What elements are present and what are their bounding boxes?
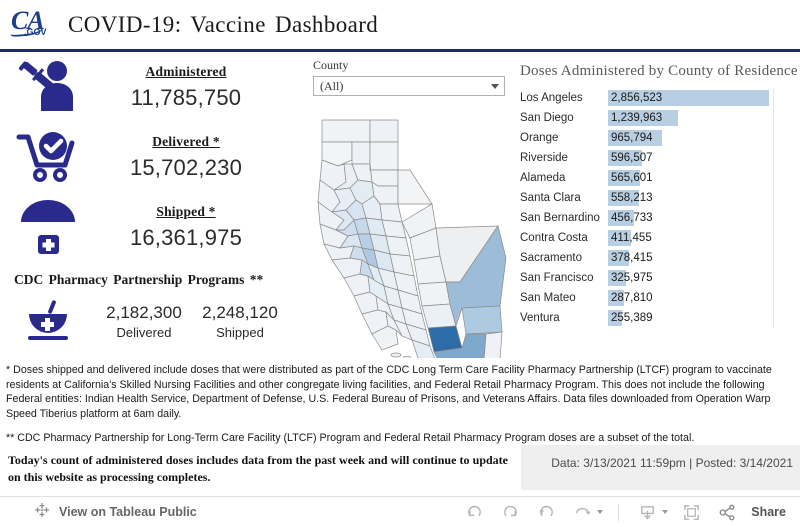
cdc-section-title: CDC Pharmacy Partnership Programs ** [14, 272, 300, 288]
chart-bar-label: Ventura [520, 312, 608, 324]
cdc-label: Shipped [192, 325, 288, 340]
chart-bar-track: 1,239,963 [608, 110, 800, 126]
chart-bar-row[interactable]: Contra Costa411,455 [520, 228, 800, 248]
chart-bar-value: 596,507 [611, 150, 653, 166]
shopping-cart-check-icon [0, 129, 96, 185]
ca-gov-logo-icon: CA .GOV [10, 8, 56, 42]
share-icon[interactable] [710, 498, 744, 526]
cdc-value: 2,182,300 [96, 303, 192, 323]
chevron-down-icon[interactable] [662, 510, 668, 514]
chart-bar-row[interactable]: San Mateo287,810 [520, 288, 800, 308]
county-doses-chart: Doses Administered by County of Residenc… [520, 62, 800, 328]
california-county-choropleth-map[interactable] [310, 108, 515, 358]
county-filter-value: (All) [320, 79, 343, 94]
chart-bar-value: 325,975 [611, 270, 653, 286]
chart-bar-value: 565,601 [611, 170, 653, 186]
chart-bar-row[interactable]: Orange965,794 [520, 128, 800, 148]
stat-administered-text: Administered 11,785,750 [96, 64, 300, 111]
stat-value: 15,702,230 [96, 155, 276, 181]
chevron-down-icon [491, 84, 499, 89]
stat-shipped: Shipped * 16,361,975 [0, 192, 300, 262]
stat-delivered: Delivered * 15,702,230 [0, 122, 300, 192]
footnote-one: * Doses shipped and delivered include do… [6, 363, 774, 422]
chart-bar-value: 378,415 [611, 250, 653, 266]
stat-label: Shipped * [96, 204, 276, 220]
cdc-shipped: 2,248,120 Shipped [192, 303, 288, 340]
toolbar-actions: Share [457, 498, 786, 526]
fullscreen-icon[interactable] [674, 498, 708, 526]
chart-bar-row[interactable]: San Francisco325,975 [520, 268, 800, 288]
chart-bar-value: 558,213 [611, 190, 653, 206]
footnote-two: ** CDC Pharmacy Partnership for Long-Ter… [6, 431, 774, 446]
chart-bar-track: 596,507 [608, 150, 800, 166]
data-timestamp: Data: 3/13/2021 11:59pm | Posted: 3/14/2… [551, 456, 793, 470]
chart-bar-row[interactable]: Alameda565,601 [520, 168, 800, 188]
stat-value: 11,785,750 [96, 85, 276, 111]
data-timestamp-box: Data: 3/13/2021 11:59pm | Posted: 3/14/2… [521, 445, 800, 490]
stat-delivered-text: Delivered * 15,702,230 [96, 134, 300, 181]
chart-title: Doses Administered by County of Residenc… [520, 62, 800, 80]
tableau-logo-icon [34, 502, 50, 523]
tableau-toolbar: View on Tableau Public [0, 496, 800, 527]
chart-bar-label: Sacramento [520, 252, 608, 264]
chart-bar-track: 325,975 [608, 270, 800, 286]
chart-bar-row[interactable]: San Bernardino456,733 [520, 208, 800, 228]
chart-bar-label: San Francisco [520, 272, 608, 284]
chart-bar-track: 565,601 [608, 170, 800, 186]
cdc-value: 2,248,120 [192, 303, 288, 323]
page-header: CA .GOV COVID-19: Vaccine Dashboard [0, 0, 800, 52]
county-filter-dropdown[interactable]: (All) [313, 76, 505, 96]
download-icon[interactable] [630, 498, 664, 526]
cdc-label: Delivered [96, 325, 192, 340]
stat-shipped-text: Shipped * 16,361,975 [96, 204, 300, 251]
chart-bar-track: 456,733 [608, 210, 800, 226]
stat-value: 16,361,975 [96, 225, 276, 251]
footnotes: * Doses shipped and delivered include do… [6, 363, 798, 445]
chart-bar-label: Contra Costa [520, 232, 608, 244]
chart-bar-track: 2,856,523 [608, 90, 800, 106]
refresh-icon[interactable] [565, 498, 599, 526]
chart-bar-label: Orange [520, 132, 608, 144]
cdc-stats-row: 2,182,300 Delivered 2,248,120 Shipped [0, 298, 300, 344]
chart-bar-value: 1,239,963 [611, 110, 662, 126]
processing-notice: Today's count of administered doses incl… [8, 452, 508, 487]
stat-label: Administered [96, 64, 276, 80]
share-label: Share [751, 505, 786, 519]
undo-icon[interactable] [457, 498, 491, 526]
chart-bar-row[interactable]: Sacramento378,415 [520, 248, 800, 268]
chart-bar-label: Alameda [520, 172, 608, 184]
chart-bar-row[interactable]: Ventura255,389 [520, 308, 800, 328]
chart-bar-value: 411,455 [611, 230, 652, 246]
parachute-medical-icon [0, 198, 96, 256]
dashboard-root: CA .GOV COVID-19: Vaccine Dashboard Admi… [0, 0, 800, 527]
chart-bar-label: Riverside [520, 152, 608, 164]
chart-bar-label: Santa Clara [520, 192, 608, 204]
redo-icon[interactable] [493, 498, 527, 526]
toolbar-divider [618, 504, 619, 521]
county-filter: County (All) [313, 58, 505, 96]
chevron-down-icon[interactable] [597, 510, 603, 514]
county-filter-label: County [313, 58, 505, 73]
chart-bar-value: 287,810 [611, 290, 653, 306]
chart-bar-track: 965,794 [608, 130, 800, 146]
chart-bar-row[interactable]: Los Angeles2,856,523 [520, 88, 800, 108]
chart-bar-row[interactable]: Riverside596,507 [520, 148, 800, 168]
page-title: COVID-19: Vaccine Dashboard [68, 12, 378, 38]
cdc-delivered: 2,182,300 Delivered [96, 303, 192, 340]
chart-bar-label: Los Angeles [520, 92, 608, 104]
view-on-tableau-public-label: View on Tableau Public [59, 505, 197, 519]
chart-bar-label: San Bernardino [520, 212, 608, 224]
stat-administered: Administered 11,785,750 [0, 52, 300, 122]
view-on-tableau-public-button[interactable]: View on Tableau Public [34, 502, 197, 523]
chart-bars: Los Angeles2,856,523San Diego1,239,963Or… [520, 88, 800, 328]
chart-bar-row[interactable]: San Diego1,239,963 [520, 108, 800, 128]
chart-bar-track: 287,810 [608, 290, 800, 306]
stat-label: Delivered * [96, 134, 276, 150]
mortar-pestle-icon [0, 298, 96, 344]
chart-bar-row[interactable]: Santa Clara558,213 [520, 188, 800, 208]
vaccination-person-icon [0, 59, 96, 115]
chart-bar-track: 558,213 [608, 190, 800, 206]
chart-bar-value: 456,733 [611, 210, 653, 226]
chart-bar-value: 965,794 [611, 130, 653, 146]
chart-bar-label: San Mateo [520, 292, 608, 304]
chart-bar-track: 255,389 [608, 310, 800, 326]
revert-icon[interactable] [529, 498, 563, 526]
chart-bar-value: 2,856,523 [611, 90, 662, 106]
chart-bar-track: 378,415 [608, 250, 800, 266]
summary-stats-panel: Administered 11,785,750 Delivered * 15,7… [0, 52, 300, 344]
chart-bar-label: San Diego [520, 112, 608, 124]
chart-bar-track: 411,455 [608, 230, 800, 246]
chart-bar-value: 255,389 [611, 310, 653, 326]
ca-logo-gov-text: .GOV [24, 27, 47, 37]
